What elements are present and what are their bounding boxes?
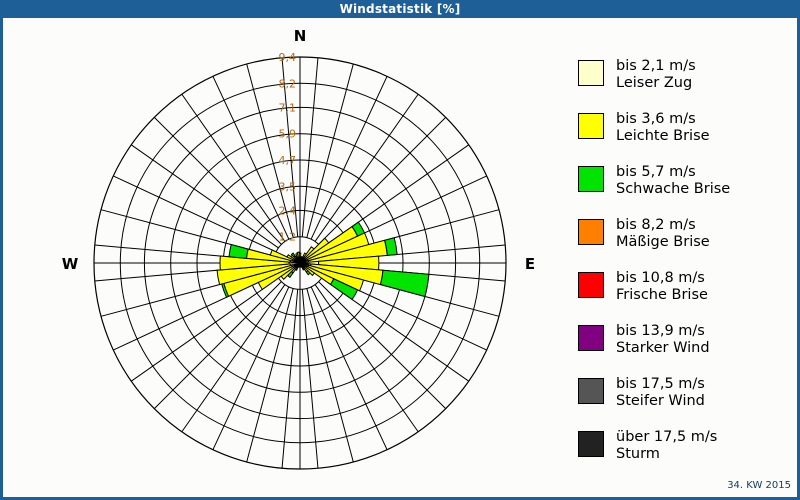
chart-canvas: 1,22,43,54,75,97,18,29,4NESW bis 2,1 m/s… — [3, 18, 797, 479]
legend-label: bis 10,8 m/sFrische Brise — [616, 270, 708, 304]
legend-label: bis 2,1 m/sLeiser Zug — [616, 58, 696, 92]
legend-color-swatch — [578, 431, 604, 457]
legend-item: bis 5,7 m/sSchwache Brise — [578, 164, 793, 211]
legend-speed-range: bis 8,2 m/s — [616, 217, 710, 234]
legend-color-swatch — [578, 272, 604, 298]
legend-label: bis 3,6 m/sLeichte Brise — [616, 111, 710, 145]
legend-item: bis 8,2 m/sMäßige Brise — [578, 217, 793, 264]
legend-color-swatch — [578, 378, 604, 404]
compass-label-west: W — [62, 255, 79, 273]
grid-spoke — [282, 289, 298, 468]
legend-speed-range: bis 10,8 m/s — [616, 270, 708, 287]
legend-beaufort-name: Leichte Brise — [616, 128, 710, 145]
grid-spoke — [131, 278, 278, 381]
legend-beaufort-name: Frische Brise — [616, 287, 708, 304]
compass-label-east: E — [525, 255, 535, 273]
radial-tick-label: 2,4 — [279, 204, 297, 217]
footer-period-label: 34. KW 2015 — [727, 480, 791, 491]
legend-color-swatch — [578, 60, 604, 86]
legend-beaufort-name: Sturm — [616, 446, 717, 463]
legend-label: über 17,5 m/sSturm — [616, 429, 717, 463]
legend-beaufort-name: Steifer Wind — [616, 393, 705, 410]
legend-beaufort-name: Leiser Zug — [616, 75, 696, 92]
grid-spoke — [315, 94, 418, 241]
legend-speed-range: bis 5,7 m/s — [616, 164, 730, 181]
legend-beaufort-name: Mäßige Brise — [616, 234, 710, 251]
legend-label: bis 5,7 m/sSchwache Brise — [616, 164, 730, 198]
grid-spoke — [319, 282, 446, 409]
radial-tick-label: 7,1 — [279, 101, 297, 114]
legend-label: bis 8,2 m/sMäßige Brise — [616, 217, 710, 251]
grid-spoke — [247, 288, 294, 462]
wind-rose-petal-segment — [380, 270, 428, 296]
legend-speed-range: bis 17,5 m/s — [616, 376, 705, 393]
window-titlebar: Windstatistik [%] — [0, 0, 800, 18]
radial-tick-label: 9,4 — [279, 51, 297, 64]
grid-spoke — [302, 289, 318, 468]
legend-speed-range: über 17,5 m/s — [616, 429, 717, 446]
grid-spoke — [182, 285, 285, 432]
grid-spoke — [154, 282, 281, 409]
legend-label: bis 17,5 m/sSteifer Wind — [616, 376, 705, 410]
compass-label-north: N — [294, 27, 307, 45]
grid-spoke — [154, 117, 281, 244]
grid-spoke — [315, 285, 418, 432]
legend-item: bis 3,6 m/sLeichte Brise — [578, 111, 793, 158]
wind-rose-petals — [217, 222, 429, 299]
radial-tick-label: 5,9 — [279, 128, 297, 141]
legend: bis 2,1 m/sLeiser Zugbis 3,6 m/sLeichte … — [578, 58, 793, 482]
legend-speed-range: bis 2,1 m/s — [616, 58, 696, 75]
legend-color-swatch — [578, 113, 604, 139]
grid-spoke — [319, 117, 446, 244]
legend-color-swatch — [578, 166, 604, 192]
legend-beaufort-name: Starker Wind — [616, 340, 710, 357]
radial-tick-labels: 1,22,43,54,75,97,18,29,4 — [279, 51, 297, 244]
wind-statistics-window: Windstatistik [%] 1,22,43,54,75,97,18,29… — [0, 0, 800, 500]
window-title: Windstatistik [%] — [340, 2, 461, 16]
legend-item: bis 2,1 m/sLeiser Zug — [578, 58, 793, 105]
legend-item: über 17,5 m/sSturm — [578, 429, 793, 476]
radial-tick-label: 8,2 — [279, 77, 297, 90]
legend-speed-range: bis 13,9 m/s — [616, 323, 710, 340]
grid-spoke — [307, 288, 354, 462]
legend-item: bis 13,9 m/sStarker Wind — [578, 323, 793, 370]
legend-label: bis 13,9 m/sStarker Wind — [616, 323, 710, 357]
grid-spoke — [182, 94, 285, 241]
wind-rose-petal-segment — [229, 245, 248, 259]
legend-item: bis 17,5 m/sSteifer Wind — [578, 376, 793, 423]
radial-tick-label: 1,2 — [279, 231, 297, 244]
legend-beaufort-name: Schwache Brise — [616, 181, 730, 198]
grid-spoke — [307, 64, 354, 238]
legend-color-swatch — [578, 219, 604, 245]
legend-color-swatch — [578, 325, 604, 351]
legend-item: bis 10,8 m/sFrische Brise — [578, 270, 793, 317]
footer-bar: 34. KW 2015 — [3, 479, 797, 497]
grid-spoke — [131, 145, 278, 248]
radial-tick-label: 4,7 — [279, 154, 297, 167]
legend-speed-range: bis 3,6 m/s — [616, 111, 710, 128]
radial-tick-label: 3,5 — [279, 180, 297, 193]
grid-spoke — [302, 58, 318, 237]
